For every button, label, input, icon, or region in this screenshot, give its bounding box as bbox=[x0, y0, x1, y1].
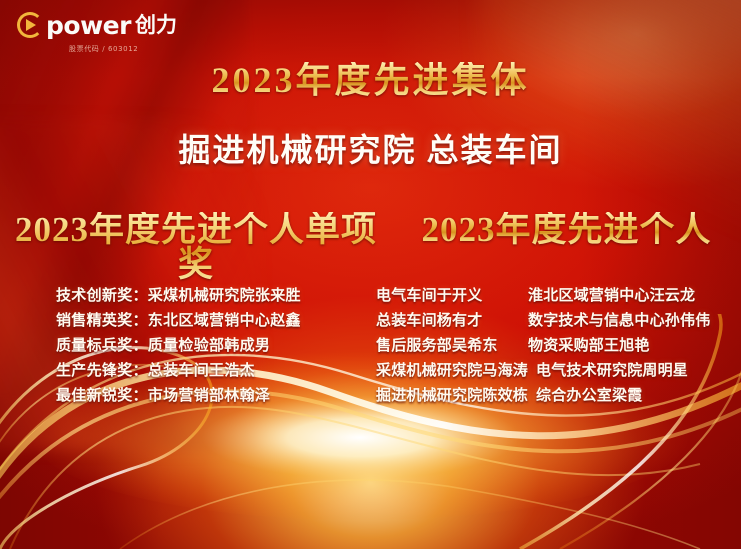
logo-wordmark: power bbox=[46, 13, 131, 38]
list-advanced-individuals: 电气车间于开义 淮北区域营销中心汪云龙 总装车间杨有才 数字技术与信息中心孙伟伟… bbox=[366, 284, 741, 409]
person-name: 物资采购部王旭艳 bbox=[528, 334, 650, 359]
heading-advanced-individual: 2023年度先进个人 bbox=[392, 212, 741, 247]
heading-individual-special-award: 2023年度先进个人单项奖 bbox=[0, 212, 392, 282]
list-item: 质量标兵奖：质量检验部韩成男 bbox=[56, 334, 366, 359]
list-item: 技术创新奖：采煤机械研究院张来胜 bbox=[56, 284, 366, 309]
list-item: 最佳新锐奖：市场营销部林翰泽 bbox=[56, 384, 366, 409]
list-item: 售后服务部吴希东 物资采购部王旭艳 bbox=[376, 334, 741, 359]
person-name: 综合办公室梁霞 bbox=[536, 384, 642, 409]
logo-row: power 创力 bbox=[17, 10, 227, 40]
person-name: 淮北区域营销中心汪云龙 bbox=[528, 284, 695, 309]
award-poster: power 创力 股票代码 / 603012 2023年度先进集体 掘进机械研究… bbox=[0, 0, 741, 549]
person-name: 售后服务部吴希东 bbox=[376, 334, 528, 359]
award-lists: 技术创新奖：采煤机械研究院张来胜 销售精英奖：东北区域营销中心赵鑫 质量标兵奖：… bbox=[0, 284, 741, 409]
poster-content: 2023年度先进集体 掘进机械研究院 总装车间 2023年度先进个人单项奖 20… bbox=[0, 0, 741, 549]
person-name: 总装车间杨有才 bbox=[376, 309, 528, 334]
person-name: 掘进机械研究院陈效栋 bbox=[376, 384, 536, 409]
power-arrow-ring-icon bbox=[17, 12, 43, 38]
list-item: 生产先锋奖：总装车间王浩杰 bbox=[56, 359, 366, 384]
person-name: 电气技术研究院周明星 bbox=[536, 359, 688, 384]
list-item: 掘进机械研究院陈效栋 综合办公室梁霞 bbox=[376, 384, 741, 409]
person-name: 数字技术与信息中心孙伟伟 bbox=[528, 309, 710, 334]
person-name: 采煤机械研究院马海涛 bbox=[376, 359, 536, 384]
section-headings: 2023年度先进个人单项奖 2023年度先进个人 bbox=[0, 212, 741, 282]
stock-code-label: 股票代码 / 603012 bbox=[69, 44, 227, 54]
page-title: 2023年度先进集体 bbox=[0, 62, 741, 98]
list-special-awards: 技术创新奖：采煤机械研究院张来胜 销售精英奖：东北区域营销中心赵鑫 质量标兵奖：… bbox=[0, 284, 366, 409]
logo-wordmark-cn: 创力 bbox=[135, 15, 177, 36]
list-item: 采煤机械研究院马海涛 电气技术研究院周明星 bbox=[376, 359, 741, 384]
list-item: 电气车间于开义 淮北区域营销中心汪云龙 bbox=[376, 284, 741, 309]
person-name: 电气车间于开义 bbox=[376, 284, 528, 309]
list-item: 销售精英奖：东北区域营销中心赵鑫 bbox=[56, 309, 366, 334]
list-item: 总装车间杨有才 数字技术与信息中心孙伟伟 bbox=[376, 309, 741, 334]
page-subtitle: 掘进机械研究院 总装车间 bbox=[0, 134, 741, 166]
company-logo[interactable]: power 创力 股票代码 / 603012 bbox=[17, 10, 227, 54]
